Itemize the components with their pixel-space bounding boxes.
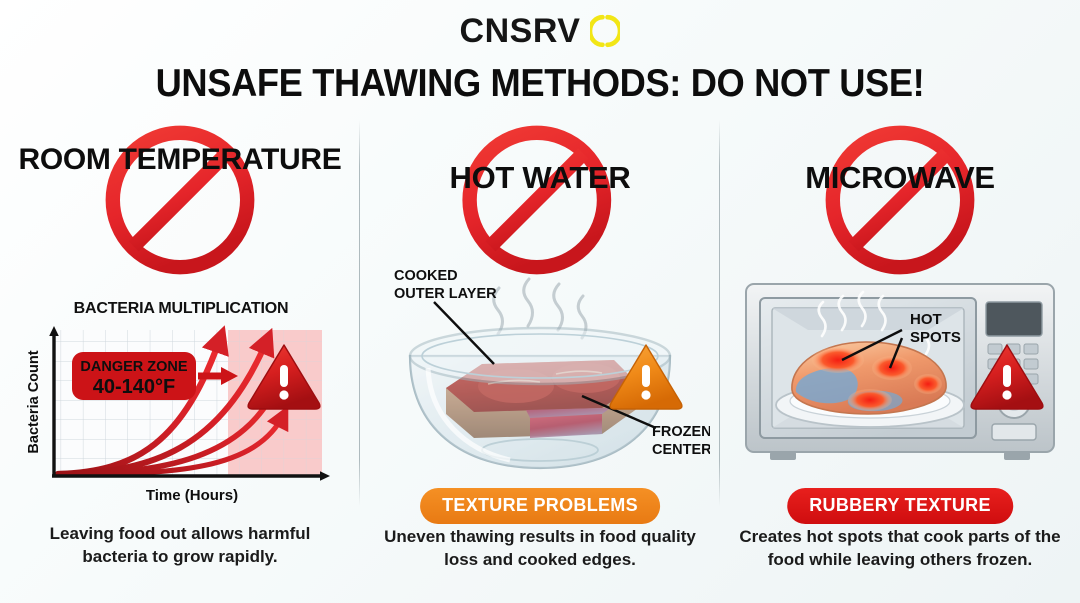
method-title: HOT WATER	[360, 162, 720, 194]
panel-hot-water: HOT WATER	[360, 118, 720, 588]
brand-name: CNSRV	[460, 14, 581, 48]
status-badge: TEXTURE PROBLEMS	[420, 488, 660, 524]
warning-triangle-icon	[245, 340, 323, 412]
method-header: ROOM TEMPERATURE	[0, 118, 360, 243]
method-title: ROOM TEMPERATURE	[0, 145, 360, 176]
panel-caption: Uneven thawing results in food quality l…	[375, 526, 705, 572]
svg-text:OUTER LAYER: OUTER LAYER	[394, 286, 497, 302]
panel-microwave: MICROWAVE	[720, 118, 1080, 588]
status-badge: RUBBERY TEXTURE	[787, 488, 1013, 524]
svg-text:40-140°F: 40-140°F	[93, 376, 176, 398]
prohibition-sign-icon	[457, 120, 617, 280]
infographic-root: CNSRV UNSAFE THAWING METHODS: DO NOT USE…	[0, 0, 1080, 603]
panel-caption: Leaving food out allows harmful bacteria…	[15, 523, 345, 569]
chart-ylabel: Bacteria Count	[26, 350, 42, 453]
warning-triangle-icon	[968, 340, 1046, 412]
svg-text:SPOTS: SPOTS	[910, 329, 961, 346]
door-button	[992, 424, 1036, 440]
prohibition-sign-icon	[820, 120, 980, 280]
svg-text:HOT: HOT	[910, 311, 942, 328]
warning-triangle-icon	[607, 340, 685, 412]
method-title: MICROWAVE	[720, 162, 1080, 194]
panel-caption: Creates hot spots that cook parts of the…	[735, 526, 1065, 572]
page-title: UNSAFE THAWING METHODS: DO NOT USE!	[38, 62, 1042, 106]
ring-arc-icon	[590, 14, 620, 48]
brand-logo: CNSRV	[0, 14, 1080, 48]
svg-text:FROZEN: FROZEN	[652, 424, 710, 440]
svg-text:DANGER ZONE: DANGER ZONE	[80, 359, 187, 375]
panel-room-temperature: ROOM TEMPERATURE BACTERIA MULTIPLICATION	[0, 118, 360, 588]
method-header: HOT WATER	[360, 118, 720, 243]
chart-xlabel: Time (Hours)	[146, 487, 238, 504]
method-header: MICROWAVE	[720, 118, 1080, 243]
svg-text:CENTER: CENTER	[652, 442, 710, 458]
chart-title: BACTERIA MULTIPLICATION	[16, 300, 346, 318]
svg-text:COOKED: COOKED	[394, 268, 458, 284]
